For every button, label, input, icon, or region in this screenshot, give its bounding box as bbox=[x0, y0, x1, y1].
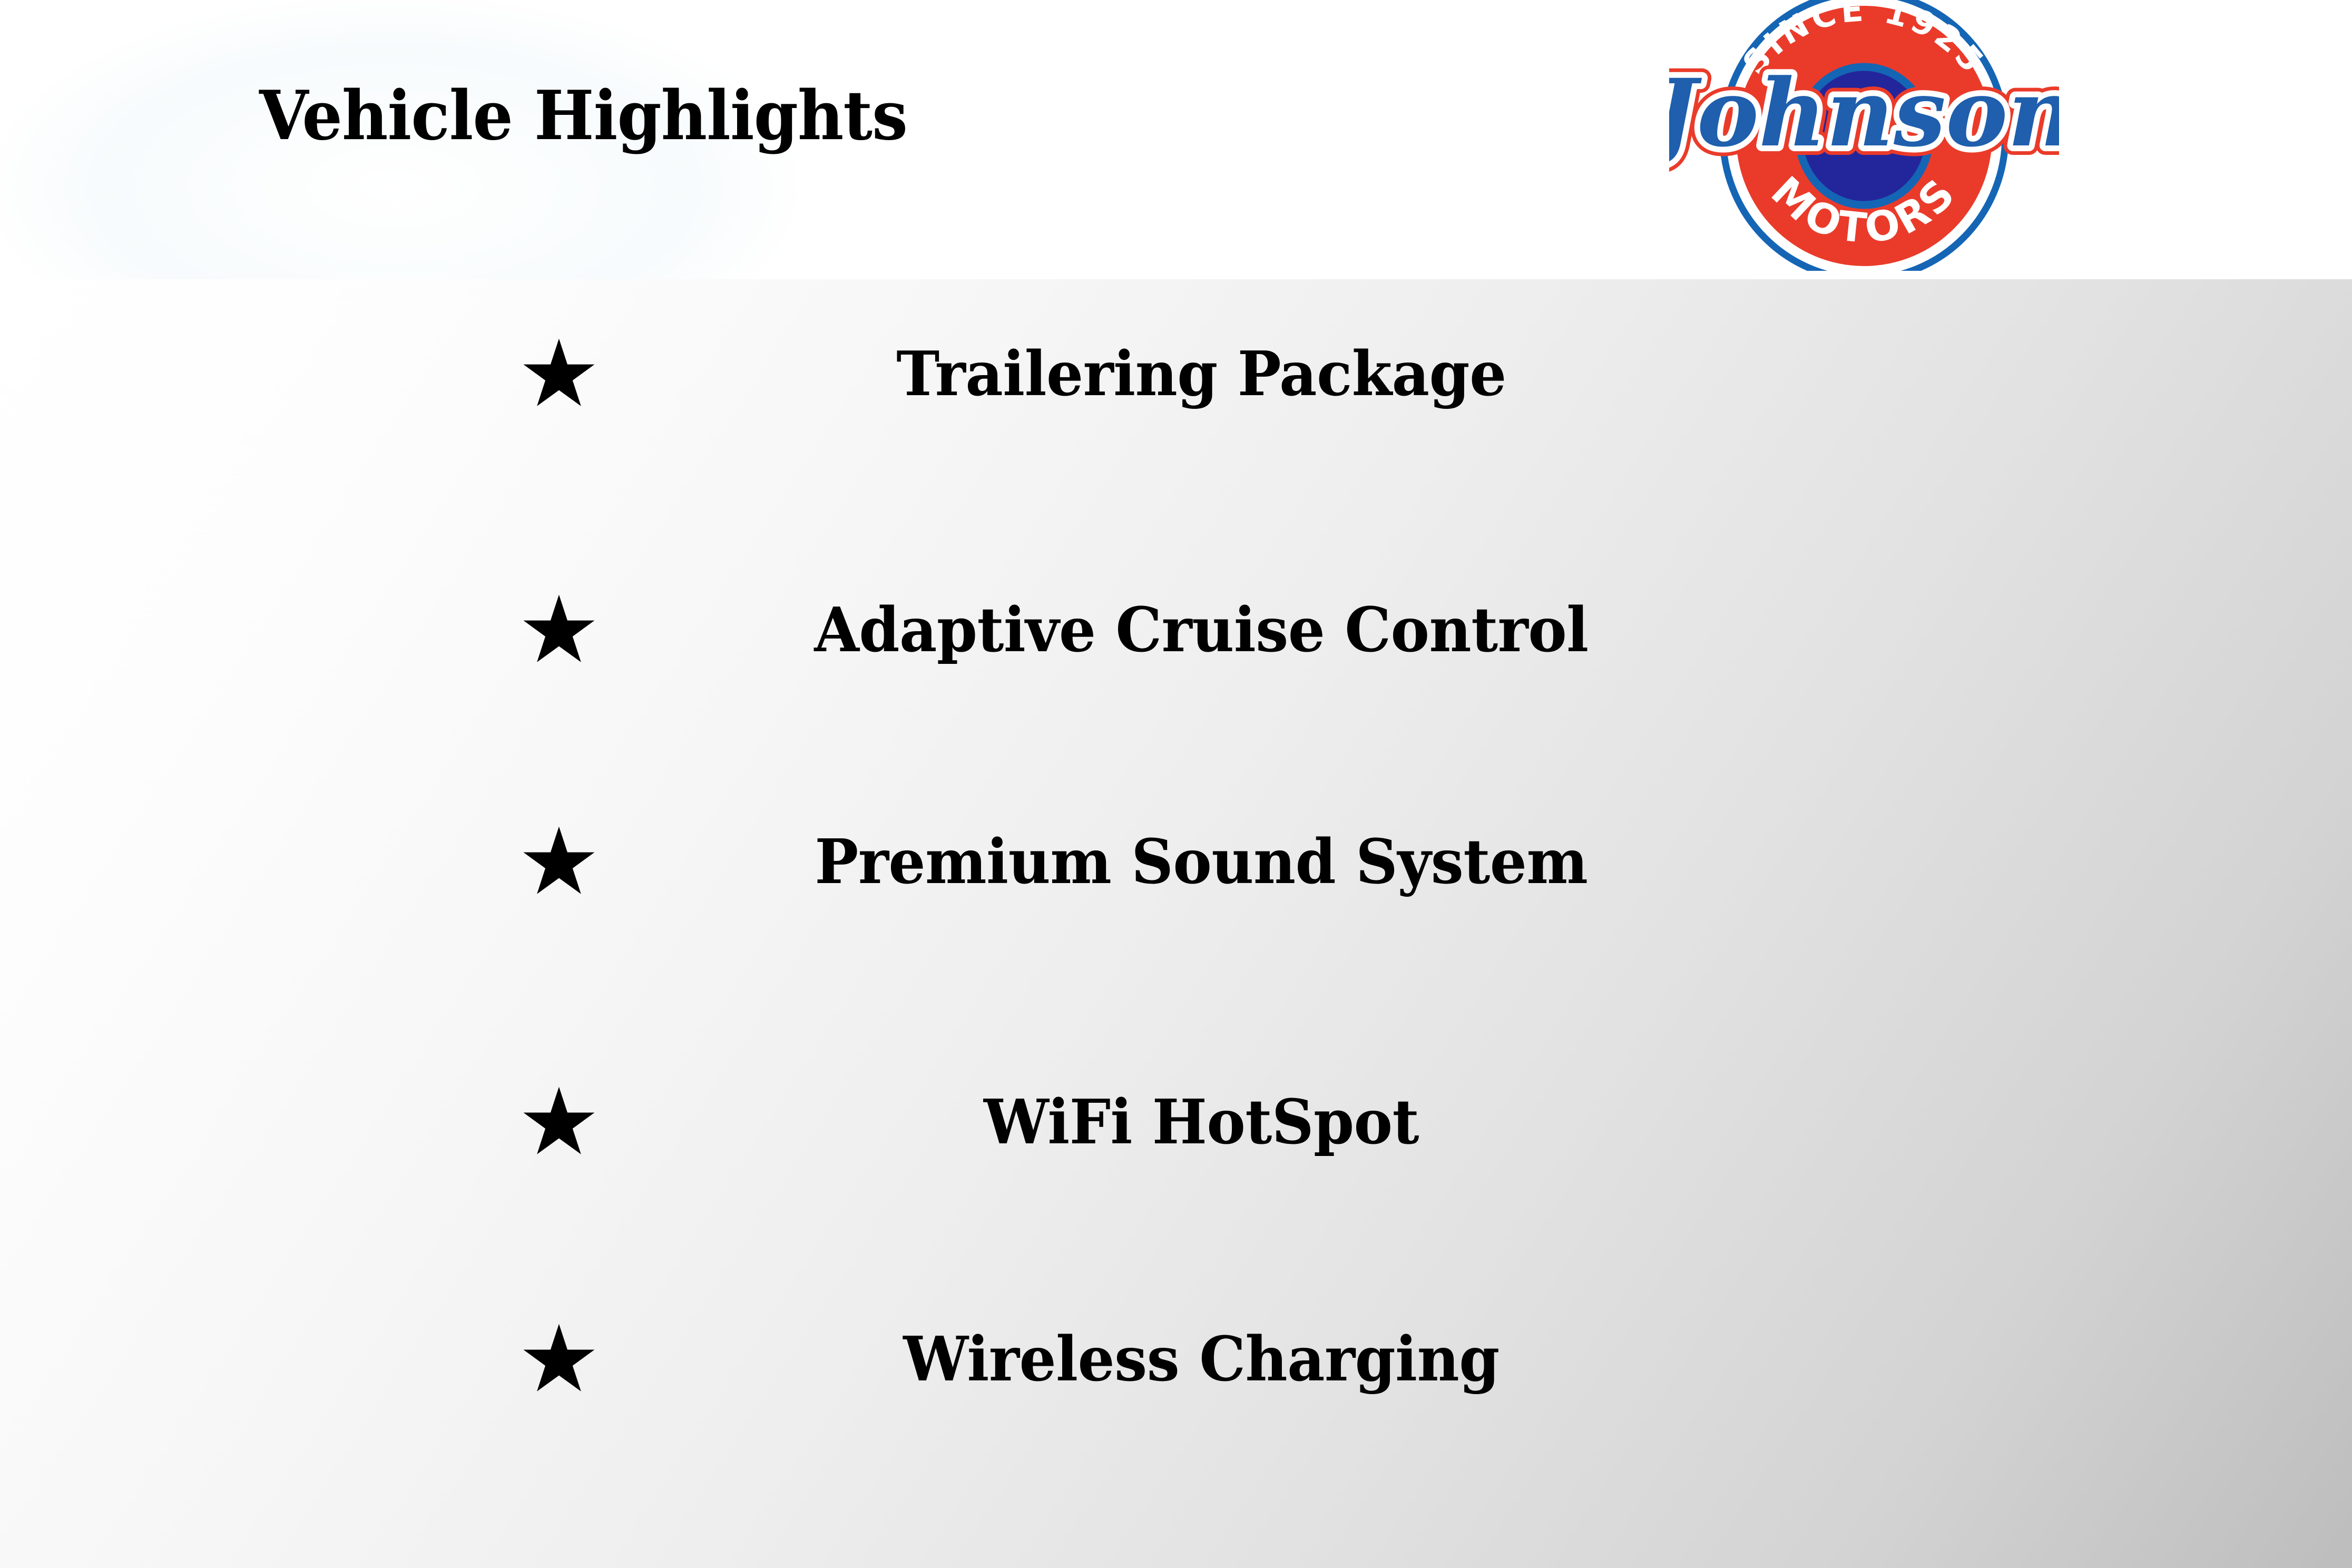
star-icon: ★ bbox=[517, 822, 596, 901]
highlight-label: Trailering Package bbox=[726, 344, 1677, 405]
highlight-label: Wireless Charging bbox=[726, 1329, 1677, 1390]
logo-johnson-wordmark: Johnson Johnson Johnson bbox=[1669, 58, 2059, 168]
list-item: ★ Premium Sound System bbox=[0, 809, 2352, 915]
johnson-motors-logo: SINCE 1925 MOTORS Johnson Johnson Johnso… bbox=[1669, 0, 2059, 271]
vehicle-highlights-slide: Vehicle Highlights SINCE 1925 MOTORS bbox=[0, 0, 2352, 1568]
highlight-label: WiFi HotSpot bbox=[726, 1092, 1677, 1153]
list-item: ★ Trailering Package bbox=[0, 321, 2352, 427]
svg-text:Johnson: Johnson bbox=[1669, 58, 2059, 168]
star-icon: ★ bbox=[517, 591, 596, 670]
star-icon: ★ bbox=[517, 335, 596, 414]
highlights-list: ★ Trailering Package ★ Adaptive Cruise C… bbox=[0, 279, 2352, 1568]
page-title: Vehicle Highlights bbox=[259, 82, 907, 150]
list-item: ★ WiFi HotSpot bbox=[0, 1070, 2352, 1175]
list-item: ★ Adaptive Cruise Control bbox=[0, 577, 2352, 683]
highlight-label: Premium Sound System bbox=[726, 831, 1677, 893]
star-icon: ★ bbox=[517, 1320, 596, 1399]
list-item: ★ Wireless Charging bbox=[0, 1307, 2352, 1412]
star-icon: ★ bbox=[517, 1083, 596, 1162]
highlight-label: Adaptive Cruise Control bbox=[726, 600, 1677, 661]
